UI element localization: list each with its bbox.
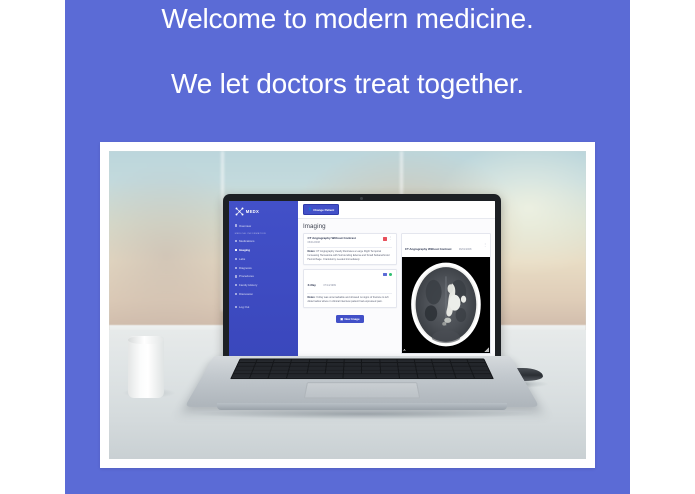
user-icon: 👤: [308, 208, 312, 211]
sidebar-item-diagnosis[interactable]: Diagnosis: [233, 263, 295, 272]
scalpel-icon: [235, 275, 237, 277]
laptop: MEDX Overview MEDICAL INFORMATION: [214, 194, 510, 422]
content-panes: CT Angiography Without Contrast 06/01/20…: [298, 233, 495, 358]
sidebar-item-label: Family History: [239, 283, 257, 287]
laptop-base: [214, 356, 510, 422]
app-topbar: 👤 Change Patient: [298, 201, 495, 219]
note-text: X-Ray was unremarkable and showed no sig…: [307, 296, 388, 303]
kebab-menu-icon[interactable]: ⋮: [483, 244, 486, 247]
imaging-card-ct[interactable]: CT Angiography Without Contrast 06/01/20…: [303, 233, 397, 265]
laptop-keyboard: [230, 358, 494, 379]
card-date: 06/01/2008: [307, 241, 355, 244]
headline-primary: Welcome to modern medicine.: [65, 3, 630, 35]
card-title: X-Ray: [307, 283, 316, 287]
flask-icon: [235, 258, 237, 260]
keyboard-row: [239, 359, 485, 362]
sidebar-item-procedures[interactable]: Procedures: [233, 272, 295, 281]
app-sidebar: MEDX Overview MEDICAL INFORMATION: [229, 201, 298, 358]
card-actions: ⋮: [383, 237, 392, 241]
page-title: Imaging: [298, 219, 495, 233]
sidebar-item-discussion[interactable]: Discussion: [233, 290, 295, 299]
viewer-title: CT Angiography Without Contrast: [405, 247, 452, 251]
note-label: Notes:: [307, 296, 315, 299]
sidebar-item-label: Medications: [239, 239, 254, 243]
card-note: Notes: X-Ray was unremarkable and showed…: [307, 296, 392, 304]
new-image-button[interactable]: ▣ New Image: [336, 315, 364, 324]
card-note: Notes: CT Angiography clearly illustrate…: [307, 250, 392, 261]
pill-icon: [235, 240, 237, 242]
edit-icon[interactable]: [383, 273, 387, 277]
sidebar-item-medications[interactable]: Medications: [233, 237, 295, 246]
card-title-block: X-Ray 07/14/1999: [307, 273, 335, 291]
webcam-icon: [360, 197, 363, 200]
mug-rim: [128, 336, 164, 344]
sidebar-item-family-history[interactable]: Family History: [233, 281, 295, 290]
viewer-header: CT Angiography Without Contrast 06/01/20…: [401, 233, 491, 257]
viewer-title-block: CT Angiography Without Contrast 06/01/20…: [405, 237, 472, 255]
status-ok-icon: [389, 273, 393, 277]
brand-name: MEDX: [246, 209, 259, 214]
stethoscope-icon: [235, 267, 237, 269]
image-icon: ▣: [340, 317, 343, 321]
sidebar-item-label: Procedures: [239, 274, 254, 278]
ct-scan-viewer[interactable]: A: [401, 257, 491, 353]
change-patient-label: Change Patient: [313, 208, 334, 212]
sidebar-item-labs[interactable]: Labs: [233, 254, 295, 263]
sidebar-group-label: MEDICAL INFORMATION: [233, 230, 295, 237]
laptop-deck: [184, 356, 539, 407]
coffee-mug: [128, 336, 164, 398]
hero-panel: Welcome to modern medicine. We let docto…: [65, 0, 630, 494]
overview-icon: [235, 224, 237, 226]
sidebar-item-label: Imaging: [239, 248, 250, 252]
card-title-block: CT Angiography Without Contrast 06/01/20…: [307, 237, 355, 244]
keyboard-row: [237, 363, 487, 366]
note-text: CT Angiography clearly illustrates a Lar…: [307, 250, 389, 261]
keyboard-row: [233, 370, 490, 373]
card-title: CT Angiography Without Contrast: [307, 237, 355, 241]
card-header: X-Ray 07/14/1999: [307, 273, 392, 291]
note-label: Notes:: [307, 250, 315, 253]
sidebar-item-label: Labs: [239, 257, 245, 261]
card-date: 07/14/1999: [323, 284, 336, 287]
card-header: CT Angiography Without Contrast 06/01/20…: [307, 237, 392, 244]
kebab-menu-icon[interactable]: ⋮: [389, 237, 392, 240]
keyboard-row: [231, 374, 492, 377]
medx-application: MEDX Overview MEDICAL INFORMATION: [229, 201, 495, 358]
card-actions: [383, 273, 392, 277]
laptop-screen: MEDX Overview MEDICAL INFORMATION: [229, 201, 495, 358]
laptop-trackpad: [303, 382, 420, 398]
sidebar-item-overview[interactable]: Overview: [233, 221, 295, 230]
sidebar-item-label: Discussion: [239, 292, 253, 296]
medx-x-nodes-icon: [235, 207, 244, 216]
headline-secondary: We let doctors treat together.: [65, 68, 630, 100]
ct-brain-scan-image: [402, 257, 490, 352]
page-root: Welcome to modern medicine. We let docto…: [0, 0, 695, 494]
sidebar-item-imaging[interactable]: Imaging: [233, 246, 295, 255]
imaging-list-pane: CT Angiography Without Contrast 06/01/20…: [303, 233, 397, 354]
laptop-shadow: [196, 409, 533, 420]
delete-icon[interactable]: [383, 237, 387, 241]
new-image-button-row: ▣ New Image: [303, 312, 397, 324]
resize-handle-icon[interactable]: [484, 347, 489, 352]
product-photo: MEDX Overview MEDICAL INFORMATION: [109, 151, 586, 459]
sidebar-item-label: Diagnosis: [239, 266, 252, 270]
keyboard-row: [235, 366, 488, 369]
sidebar-item-label: Log Out: [239, 305, 249, 309]
family-icon: [235, 284, 237, 286]
scan-viewer-pane: CT Angiography Without Contrast 06/01/20…: [401, 233, 491, 354]
new-image-label: New Image: [344, 317, 359, 321]
app-content: 👤 Change Patient Imaging: [298, 201, 495, 358]
laptop-lid: MEDX Overview MEDICAL INFORMATION: [223, 194, 501, 363]
imaging-icon: [235, 249, 237, 251]
product-photo-frame: MEDX Overview MEDICAL INFORMATION: [100, 142, 595, 468]
viewer-date: 06/01/2008: [459, 248, 472, 251]
brand-logo[interactable]: MEDX: [233, 205, 295, 221]
scan-orientation-label: A: [403, 348, 405, 352]
logout-icon: [235, 306, 237, 308]
laptop-front-edge: [217, 403, 507, 410]
imaging-card-xray[interactable]: X-Ray 07/14/1999: [303, 269, 397, 308]
sidebar-item-label: Overview: [239, 224, 251, 228]
sidebar-item-log-out[interactable]: Log Out: [233, 302, 295, 311]
change-patient-button[interactable]: 👤 Change Patient: [303, 204, 339, 214]
chat-icon: [235, 293, 237, 295]
